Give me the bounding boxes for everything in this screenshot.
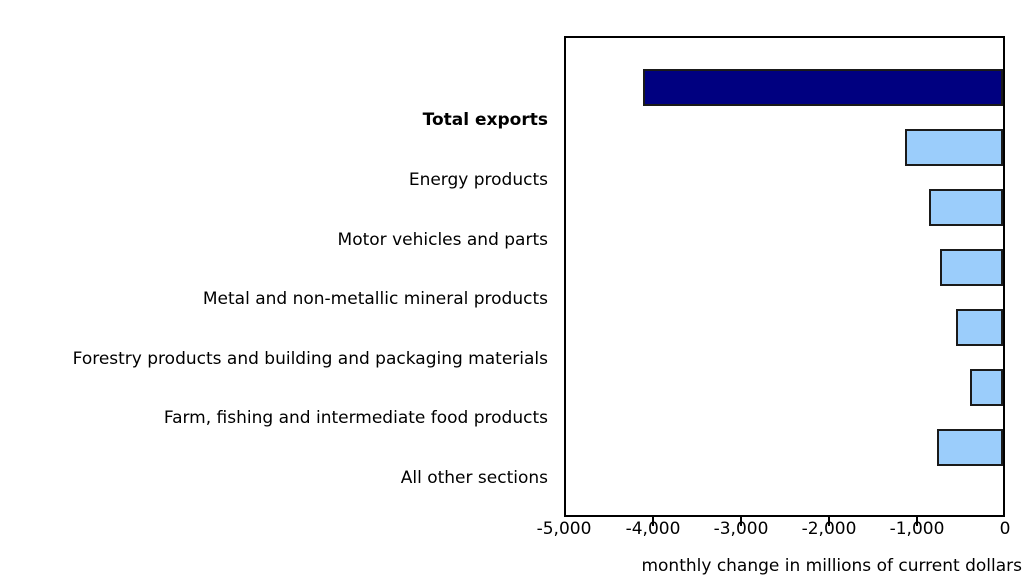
plot-area — [564, 36, 1005, 517]
tick-label-minus-4000: -4,000 — [626, 519, 681, 539]
bar-motor-vehicles-and-parts[interactable] — [929, 189, 1003, 226]
x-axis-title: monthly change in millions of current do… — [0, 556, 1022, 577]
category-label-total-exports: Total exports — [0, 110, 548, 130]
bar-all-other-sections[interactable] — [937, 429, 1003, 466]
tick-label-zero: 0 — [1000, 519, 1011, 539]
bar-energy-products[interactable] — [905, 129, 1003, 166]
bar-total-exports[interactable] — [643, 69, 1003, 106]
category-label-farm-fishing-and-intermediate-food-products: Farm, fishing and intermediate food prod… — [0, 408, 548, 428]
bars-container — [566, 38, 1003, 515]
category-label-metal-and-non-metallic-mineral-products: Metal and non-metallic mineral products — [0, 289, 548, 309]
category-label-motor-vehicles-and-parts: Motor vehicles and parts — [0, 230, 548, 250]
category-label-forestry-products-and-building-and-packaging-materials: Forestry products and building and packa… — [0, 349, 548, 369]
tick-label-minus-3000: -3,000 — [714, 519, 769, 539]
bar-farm-fishing-and-intermediate-food-products[interactable] — [970, 369, 1003, 406]
bar-forestry-products-and-building-and-packaging-materials[interactable] — [956, 309, 1003, 346]
tick-label-minus-5000: -5,000 — [537, 519, 592, 539]
category-label-all-other-sections: All other sections — [0, 468, 548, 488]
tick-label-minus-1000: -1,000 — [890, 519, 945, 539]
category-axis-labels: Total exports Energy products Motor vehi… — [0, 36, 548, 516]
category-label-energy-products: Energy products — [0, 170, 548, 190]
bar-chart: Total exports Energy products Motor vehi… — [0, 0, 1030, 588]
bar-metal-and-non-metallic-mineral-products[interactable] — [940, 249, 1003, 286]
tick-label-minus-2000: -2,000 — [802, 519, 857, 539]
